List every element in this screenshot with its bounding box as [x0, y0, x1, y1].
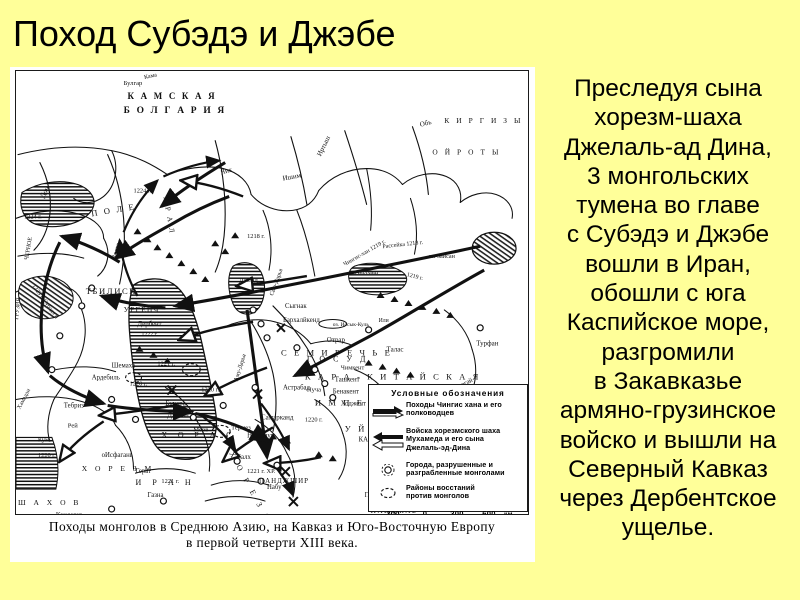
scale-tick: 300 — [376, 509, 410, 515]
svg-text:Газна: Газна — [147, 492, 163, 499]
svg-text:1220 г.: 1220 г. — [305, 416, 323, 423]
page-title: Поход Субэдэ и Джэбе — [13, 12, 533, 58]
svg-text:Турфан: Турфан — [476, 340, 498, 348]
svg-text:К И Р Г И З Ы: К И Р Г И З Ы — [444, 116, 523, 125]
narrative-line: ущелье. — [542, 513, 794, 542]
svg-text:Самарканд: Самарканд — [261, 413, 294, 421]
svg-text:Сыгнак: Сыгнак — [285, 303, 307, 310]
svg-text:С Е М И Р Е Ч Ь Е: С Е М И Р Е Ч Ь Е — [281, 348, 393, 358]
svg-text:Кум: Кум — [38, 436, 49, 443]
svg-text:Бенакент: Бенакент — [333, 389, 359, 396]
svg-text:Булгар: Булгар — [124, 80, 143, 87]
svg-text:Мерв: Мерв — [193, 426, 208, 433]
svg-text:Нишапур: Нишапур — [247, 432, 275, 439]
svg-text:Чимкент: Чимкент — [341, 365, 365, 372]
map-legend: Условные обозначения Походы Чингис хана … — [368, 384, 528, 512]
legend-line: Джелаль-эд-Дина — [406, 444, 500, 452]
narrative-line: в Закавказье — [542, 367, 794, 396]
svg-text:оИсфагань: оИсфагань — [102, 452, 133, 459]
svg-text:1220 г.: 1220 г. — [130, 381, 148, 388]
svg-text:оз. Иссык-Куль: оз. Иссык-Куль — [333, 322, 370, 328]
narrative-line: тумена во главе — [542, 191, 794, 220]
svg-text:Бухара: Бухара — [165, 399, 185, 407]
filled-arrow-right-icon — [372, 401, 406, 424]
svg-text:Дамган: Дамган — [167, 412, 189, 419]
svg-text:Или: Или — [379, 318, 389, 324]
narrative-line: Каспийское море, — [542, 308, 794, 337]
svg-text:1224 г.: 1224 г. — [134, 187, 152, 194]
svg-text:Дженд: Дженд — [239, 277, 258, 284]
scale-tick: 600 — [474, 509, 504, 515]
narrative-line: 3 монгольских — [542, 162, 794, 191]
map-scale-ticks: 3000300600км — [369, 509, 527, 515]
filled-arrow-left-icon — [372, 427, 406, 458]
svg-text:Балх: Балх — [237, 454, 251, 461]
svg-text:1224 г.: 1224 г. — [24, 213, 42, 220]
svg-text:1218 г.: 1218 г. — [247, 233, 265, 240]
revolt-area-marker-icon — [372, 484, 406, 504]
svg-text:Отрар: Отрар — [327, 336, 346, 344]
narrative-line: Джелаль-ад Дина, — [542, 133, 794, 162]
svg-text:Герат: Герат — [136, 468, 152, 475]
narrative-line: войско и вышли на — [542, 426, 794, 455]
svg-text:Термез: Термез — [231, 424, 251, 431]
svg-text:1221 г. ХР.: 1221 г. ХР. — [247, 468, 276, 475]
svg-text:ТБИЛИСИ: ТБИЛИСИ — [86, 286, 137, 296]
legend-entry-destroyed-cities: Города, разрушенные и разграбленные монг… — [369, 461, 527, 481]
scale-unit: км — [504, 511, 520, 515]
svg-text:Нуча: Нуча — [307, 387, 321, 394]
legend-entry-mongol-campaigns: Походы Чингис хана и его полководцев — [369, 401, 527, 424]
svg-text:К А Р А - К И Т А Й С К А Я: К А Р А - К И Т А Й С К А Я — [305, 372, 481, 382]
svg-text:Шемаха: Шемаха — [112, 363, 135, 370]
svg-text:Бархалйкенд: Бархалйкенд — [283, 317, 320, 324]
svg-text:1221 г.: 1221 г. — [161, 478, 179, 485]
svg-text:Рей: Рей — [68, 422, 78, 429]
scale-tick: 300 — [440, 509, 474, 515]
svg-text:Кандагар: Кандагар — [56, 512, 83, 514]
legend-title: Условные обозначения — [369, 389, 527, 398]
legend-entry-mongol-campaigns-text: Походы Чингис хана и его полководцев — [406, 401, 502, 418]
svg-text:Набу: Набу — [267, 484, 282, 491]
narrative-line: хорезм-шаха — [542, 103, 794, 132]
svg-text:О Й Р О Т Ы: О Й Р О Т Ы — [432, 148, 501, 157]
legend-line: против монголов — [406, 492, 475, 500]
narrative-text-block: Преследуя сына хорезм-шаха Джелаль-ад Ди… — [542, 74, 794, 543]
legend-entry-revolt-areas-text: Районы восстаний против монголов — [406, 484, 475, 501]
map-frame: К А М С К А Я Б О Л Г А Р И Я Булгар Кам… — [15, 70, 529, 515]
svg-text:1221 г.: 1221 г. — [157, 361, 175, 368]
destroyed-city-marker-icon — [372, 461, 406, 481]
narrative-line: Северный Кавказ — [542, 455, 794, 484]
map-caption-line: Походы монголов в Среднюю Азию, на Кавка… — [15, 519, 529, 535]
svg-text:УРГЕНЧ: УРГЕНЧ — [124, 305, 160, 314]
svg-text:ПАНДЖШИР: ПАНДЖШИР — [259, 477, 309, 485]
narrative-line: обошли с юга — [542, 279, 794, 308]
map-scale-bar: 3000300600км — [369, 509, 527, 515]
legend-entry-revolt-areas: Районы восстаний против монголов — [369, 484, 527, 504]
narrative-line: армяно-грузинское — [542, 396, 794, 425]
legend-entry-khorezm-armies: Войска хорезмского шаха Мухамеда и его с… — [369, 427, 527, 458]
map-caption-line: в первой четверти XIII века. — [15, 535, 529, 551]
scale-tick: 0 — [410, 509, 440, 515]
map-caption: Походы монголов в Среднюю Азию, на Кавка… — [15, 519, 529, 551]
legend-entry-destroyed-cities-text: Города, разрушенные и разграбленные монг… — [406, 461, 505, 478]
svg-text:К А М С К А Я: К А М С К А Я — [128, 91, 217, 101]
legend-line: полководцев — [406, 409, 502, 417]
narrative-line: Преследуя сына — [542, 74, 794, 103]
svg-text:Б О Л Г А Р И Я: Б О Л Г А Р И Я — [124, 106, 227, 116]
svg-text:Ардебиль: Ардебиль — [92, 375, 120, 382]
svg-text:оз. Зайсан: оз. Зайсан — [428, 253, 455, 260]
narrative-line: с Субэдэ и Джэбе — [542, 220, 794, 249]
svg-text:1220 г.: 1220 г. — [38, 452, 56, 459]
svg-text:оз. Балхаш: оз. Балхаш — [349, 269, 379, 276]
narrative-line: вошли в Иран, — [542, 250, 794, 279]
legend-line: разграбленные монголами — [406, 469, 505, 477]
narrative-line: разгромили — [542, 338, 794, 367]
map-figure: К А М С К А Я Б О Л Г А Р И Я Булгар Кам… — [10, 67, 535, 562]
svg-text:Тебриз: Тебриз — [64, 402, 84, 409]
legend-entry-khorezm-armies-text: Войска хорезмского шаха Мухамеда и его с… — [406, 427, 500, 452]
svg-text:Ш А Х О В: Ш А Х О В — [18, 498, 81, 507]
narrative-line: через Дербентское — [542, 484, 794, 513]
svg-text:1222 г.: 1222 г. — [142, 332, 159, 338]
svg-text:Дербент: Дербент — [138, 321, 162, 328]
svg-text:1220 г.: 1220 г. — [201, 387, 219, 394]
